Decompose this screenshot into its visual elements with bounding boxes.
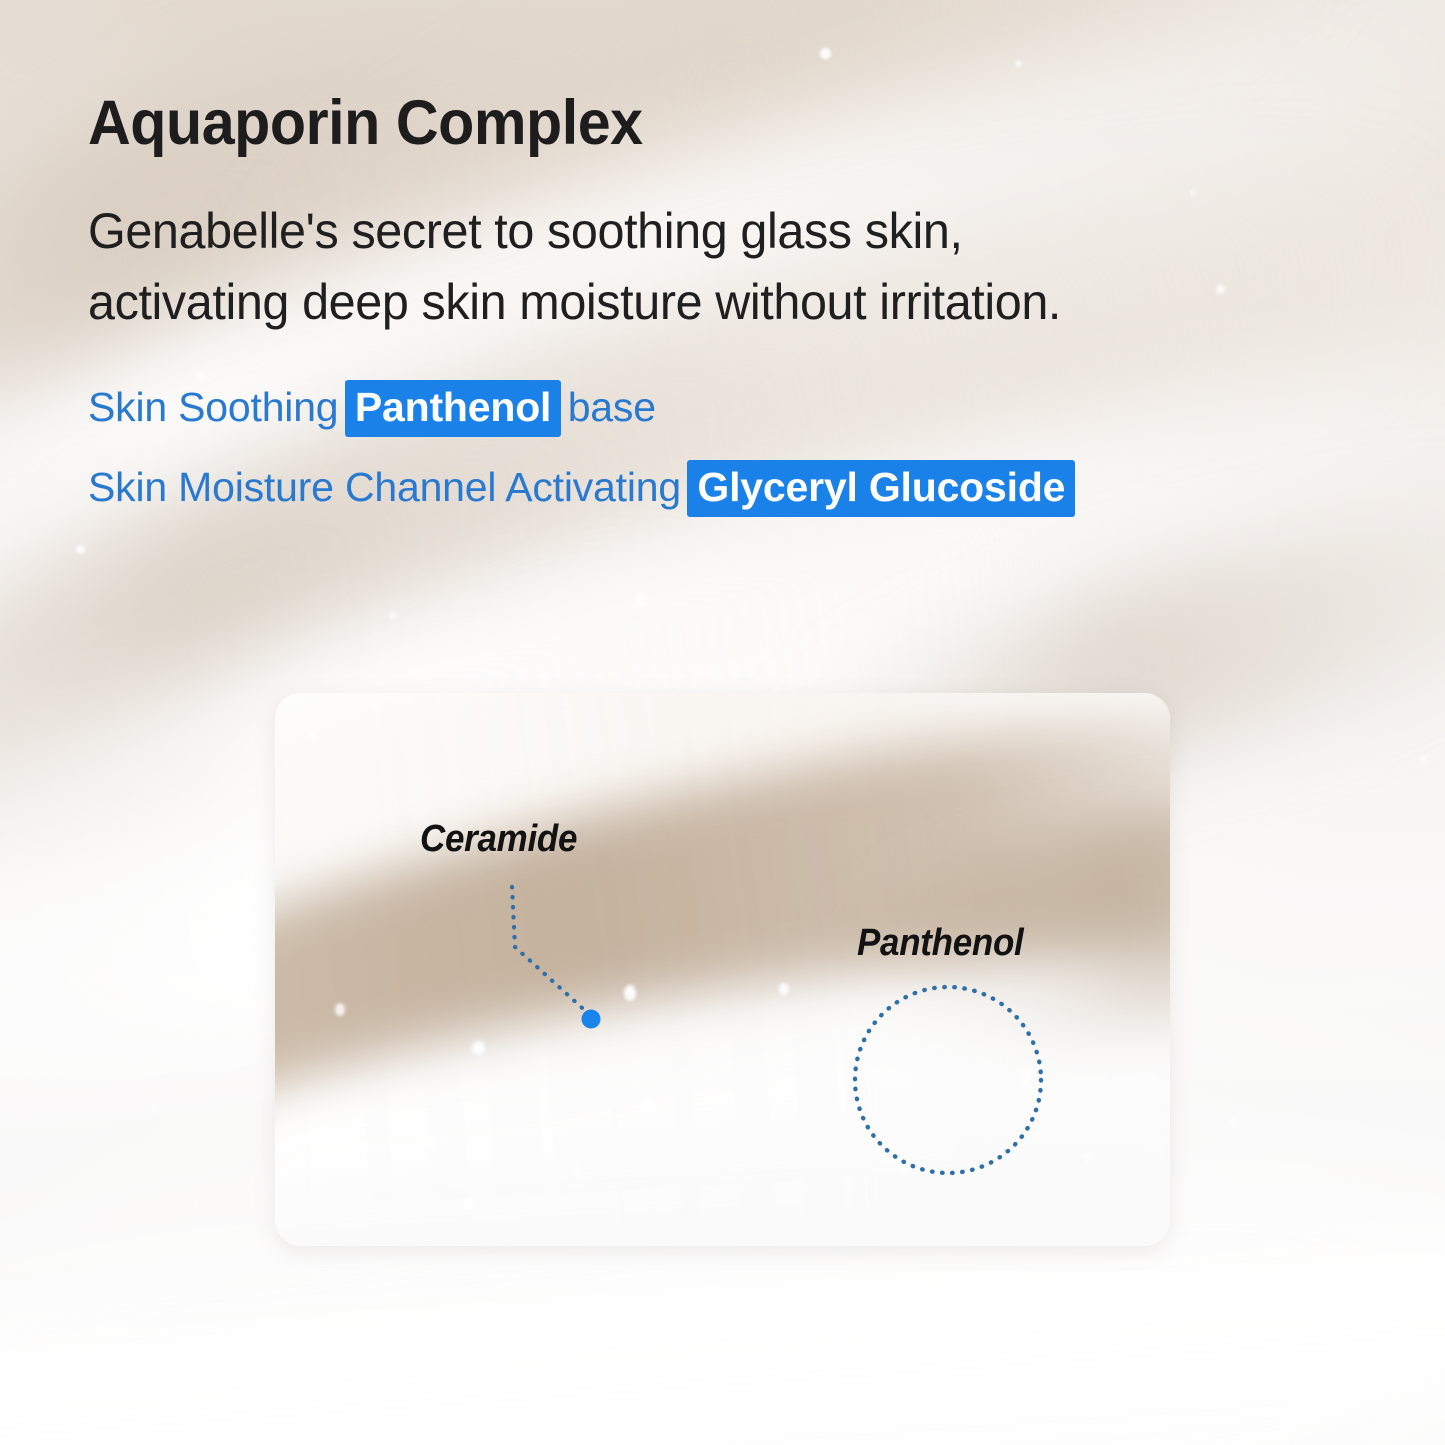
foam-bubble [472,1041,485,1055]
foam-bubble [779,983,789,995]
page-subtitle: Genabelle's secret to soothing glass ski… [88,196,1061,338]
benefit-highlight-panthenol: Panthenol [345,380,561,437]
benefits-list: Skin Soothing Panthenol base Skin Moistu… [88,380,1077,540]
foam-bubble [898,1163,907,1174]
subtitle-line-1: Genabelle's secret to soothing glass ski… [88,196,1061,267]
benefit-row-panthenol: Skin Soothing Panthenol base [88,380,1077,437]
card-label-panthenol: Panthenol [857,922,1024,965]
page-title: Aquaporin Complex [88,92,643,155]
ingredient-photo-card [275,693,1170,1246]
card-photo-image [275,693,1170,1246]
foam-bubble [574,1164,583,1174]
foam-bubble [624,985,636,1001]
foam-bubble [427,1136,438,1147]
benefit-prefix: Skin Moisture Channel Activating [88,464,681,510]
foam-bubble [463,1198,475,1210]
foam-bubble [641,1098,656,1115]
foam-bubble [1020,1073,1030,1085]
benefit-highlight-glyceryl-glucoside: Glyceryl Glucoside [687,460,1075,517]
foam-bubble [335,1003,345,1016]
benefit-prefix: Skin Soothing [88,384,338,430]
subtitle-line-2: activating deep skin moisture without ir… [88,267,1061,338]
foam-bubble [308,730,316,739]
benefit-suffix: base [568,384,656,430]
foam-bubble [1081,1153,1090,1163]
benefit-row-glyceryl-glucoside: Skin Moisture Channel Activating Glycery… [88,460,1077,517]
card-label-ceramide: Ceramide [420,818,577,861]
